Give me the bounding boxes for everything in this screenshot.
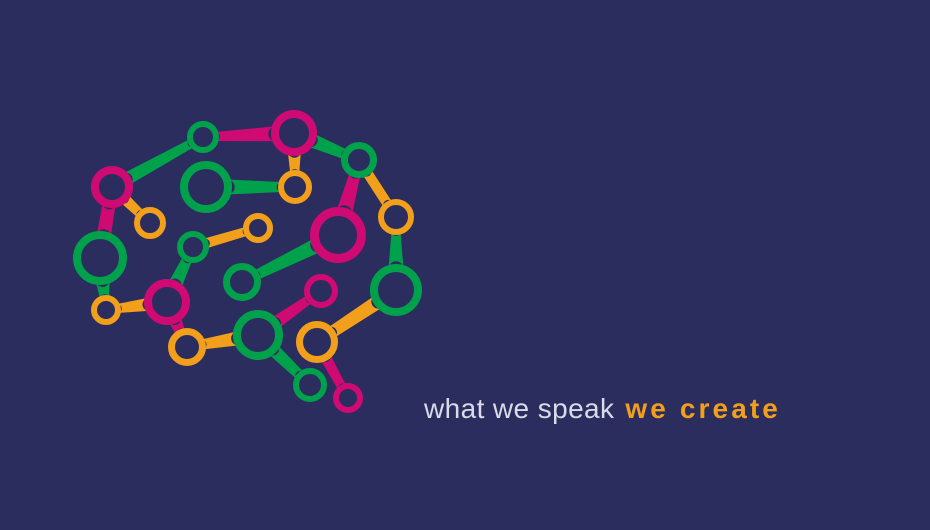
logo-link-n-orange-tiny-mid-to-n-green-small-midleft	[203, 227, 248, 248]
node-orange-stem-hole	[303, 328, 331, 356]
node-green-bottom-middle-hole	[241, 318, 275, 352]
brain-network-svg	[55, 95, 435, 440]
tagline-light-text: what we speak	[424, 392, 614, 426]
node-green-center-small-hole	[230, 270, 254, 294]
node-orange-lower-left-hole	[97, 301, 115, 319]
logo-node-layer	[77, 114, 418, 410]
logo-link-n-magenta-center-to-n-green-center-small	[253, 238, 321, 280]
node-green-right-large-hole	[378, 272, 414, 308]
logo-link-n-green-mid-big-to-n-orange-upper-mid	[227, 180, 281, 195]
node-orange-right-hole	[384, 205, 408, 229]
node-green-upper-right-hole	[348, 149, 370, 171]
node-orange-small-middle-hole	[249, 219, 267, 237]
node-orange-upper-middle-hole	[284, 176, 306, 198]
node-magenta-small-lower-hole	[310, 280, 332, 302]
node-green-top-hole	[193, 127, 213, 147]
logo-link-n-green-top-small-to-n-magenta-top-big	[215, 126, 276, 141]
node-magenta-upper-left-hole	[99, 174, 125, 200]
node-green-small-midleft-hole	[183, 237, 203, 257]
node-magenta-stem-tip-hole	[339, 389, 357, 407]
node-orange-bottom-left-hole	[175, 335, 199, 359]
node-orange-left-hole	[140, 213, 160, 233]
node-green-middle-large-hole	[188, 169, 224, 205]
tagline-accent-text: we create	[625, 392, 781, 426]
node-green-left-large-hole	[81, 239, 119, 277]
screen-canvas: what we speak we create	[0, 0, 930, 530]
logo-link-n-orange-right-small-to-n-green-right-big	[389, 231, 404, 268]
node-magenta-top-hole	[279, 118, 309, 148]
brain-network-logo	[55, 95, 435, 440]
node-magenta-center-large-hole	[319, 216, 357, 254]
node-magenta-lower-left-hole	[152, 287, 182, 317]
tagline: what we speak we create	[424, 392, 781, 430]
node-green-stem-small-hole	[299, 374, 321, 396]
